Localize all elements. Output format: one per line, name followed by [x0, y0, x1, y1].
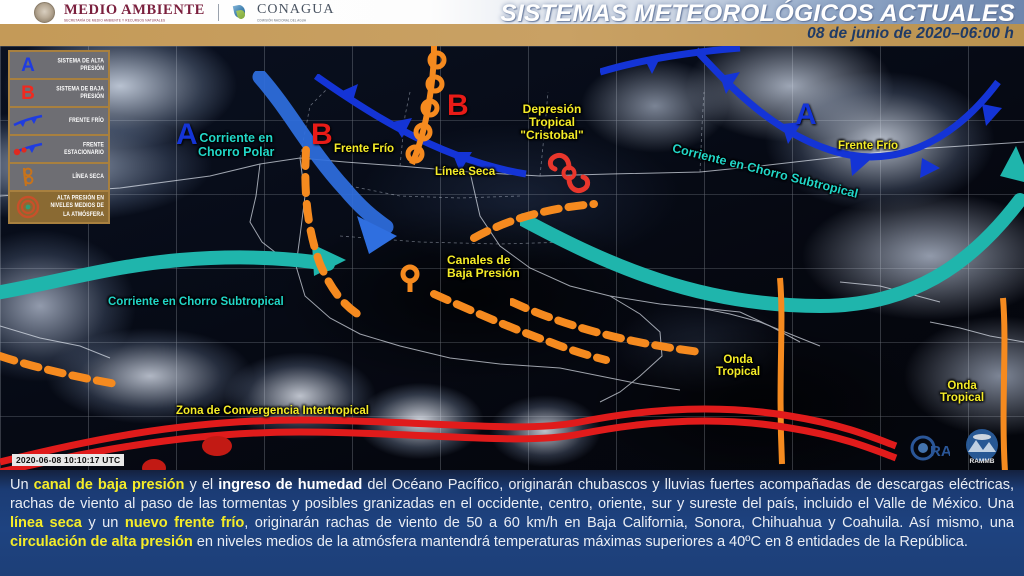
high-pressure-symbol-east: A	[795, 98, 817, 132]
dry-line-dashed-west	[280, 146, 420, 326]
low-pressure-channels-label: Canales de Baja Presión	[447, 254, 520, 280]
logo-divider	[218, 4, 219, 21]
medio-ambiente-title: MEDIO AMBIENTE	[64, 3, 205, 18]
subtropical-jet-label-west: Corriente en Chorro Subtropical	[108, 296, 284, 308]
legend-label-mid-level-high: ALTA PRESIÓN EN NIVELES MEDIOS DE LA ATM…	[46, 195, 108, 220]
tropical-wave-label-2: Onda Tropical	[940, 380, 984, 405]
tropical-wave-label-1: Onda Tropical	[716, 354, 760, 379]
mid-level-high-marker-1	[200, 432, 234, 465]
medio-ambiente-logo: MEDIO AMBIENTE SECRETARÍA DE MEDIO AMBIE…	[64, 3, 205, 22]
legend-label-low-pressure: SISTEMA DE BAJA PRESIÓN	[46, 85, 108, 102]
low-pressure-channel-gulf	[510, 296, 710, 366]
legend-item-cold-front: FRENTE FRÍO	[10, 108, 108, 134]
legend-item-mid-level-high: ALTA PRESIÓN EN NIVELES MEDIOS DE LA ATM…	[10, 192, 108, 222]
institutional-logos: MEDIO AMBIENTE SECRETARÍA DE MEDIO AMBIE…	[34, 1, 335, 24]
page-title: SISTEMAS METEOROLÓGICOS ACTUALES	[500, 0, 1015, 28]
map-legend: A SISTEMA DE ALTA PRESIÓN B SISTEMA DE B…	[8, 50, 110, 224]
page-header: MEDIO AMBIENTE SECRETARÍA DE MEDIO AMBIE…	[0, 0, 1024, 46]
conagua-water-drop-icon	[232, 4, 248, 21]
low-pressure-channel-north	[470, 196, 600, 246]
legend-item-dry-line: LÍNEA SECA	[10, 164, 108, 190]
cold-front-northeast	[600, 46, 780, 106]
mid-level-high-icon	[10, 192, 46, 222]
cold-front-icon	[10, 108, 46, 134]
forecast-text: Un canal de baja presión y el ingreso de…	[10, 476, 1014, 552]
conagua-title: CONAGUA	[257, 3, 335, 17]
dry-line-icon	[10, 164, 46, 190]
itcz-line	[0, 376, 900, 470]
cold-front-label-west: Frente Frío	[334, 143, 394, 155]
tropical-depression-label: Depresión Tropical "Cristobal"	[497, 103, 607, 142]
medio-ambiente-subtitle: SECRETARÍA DE MEDIO AMBIENTE Y RECURSOS …	[64, 19, 205, 23]
polar-jet-label: Corriente en Chorro Polar	[198, 132, 274, 159]
forecast-panel: Un canal de baja presión y el ingreso de…	[0, 470, 1024, 576]
mid-level-high-marker-2	[140, 456, 168, 470]
legend-label-high-pressure: SISTEMA DE ALTA PRESIÓN	[46, 57, 108, 74]
stationary-front-icon	[10, 136, 46, 162]
cira-logo: RA	[910, 430, 950, 464]
cold-front-label-east: Frente Frío	[838, 140, 898, 152]
low-pressure-b-icon: B	[10, 80, 46, 106]
legend-item-high-pressure: A SISTEMA DE ALTA PRESIÓN	[10, 52, 108, 78]
itcz-label: Zona de Convergencia Intertropical	[176, 405, 369, 417]
rammb-logo: RAMMB	[956, 428, 1008, 466]
high-pressure-a-icon: A	[10, 52, 46, 78]
bulletin-date: 08 de junio de 2020–06:00 h	[807, 25, 1014, 43]
dry-line-ring-marker	[398, 264, 422, 299]
satellite-map[interactable]: A B B A Corriente en Chorro Polar Frente…	[0, 46, 1024, 470]
legend-item-stationary-front: FRENTE ESTACIONARIO	[10, 136, 108, 162]
high-pressure-symbol-west: A	[176, 118, 198, 152]
svg-text:RA: RA	[930, 443, 950, 460]
dry-line-label: Línea Seca	[435, 166, 495, 178]
legend-item-low-pressure: B SISTEMA DE BAJA PRESIÓN	[10, 80, 108, 106]
weather-bulletin-page: MEDIO AMBIENTE SECRETARÍA DE MEDIO AMBIE…	[0, 0, 1024, 576]
legend-label-cold-front: FRENTE FRÍO	[46, 117, 108, 125]
low-pressure-symbol-north: B	[447, 89, 469, 123]
conagua-subtitle: COMISIÓN NACIONAL DEL AGUA	[257, 19, 335, 23]
svg-text:RAMMB: RAMMB	[970, 458, 995, 465]
satellite-timestamp: 2020-06-08 10:10:17 UTC	[12, 454, 124, 466]
legend-label-stationary-front: FRENTE ESTACIONARIO	[46, 141, 108, 158]
tropical-depression-symbol	[545, 149, 593, 202]
conagua-logo: CONAGUA COMISIÓN NACIONAL DEL AGUA	[257, 3, 335, 22]
low-pressure-symbol-west: B	[311, 118, 333, 152]
mexican-eagle-seal-icon	[34, 2, 55, 23]
legend-label-dry-line: LÍNEA SECA	[46, 173, 108, 181]
